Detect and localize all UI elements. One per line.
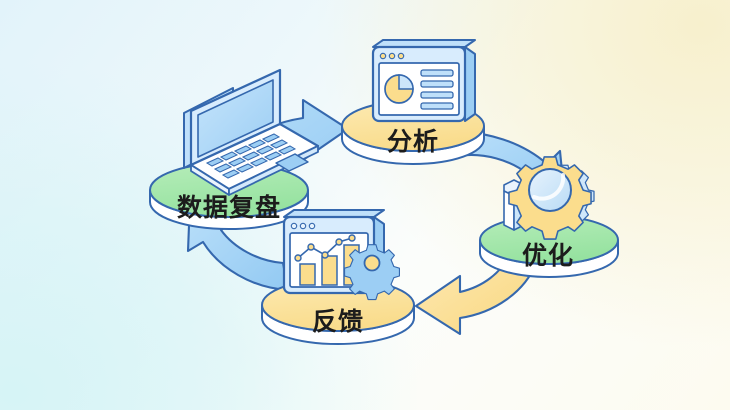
pie-chart-icon [385, 75, 413, 103]
diagram-canvas: 数据复盘 分析 优化 反馈 [0, 0, 730, 410]
node-analysis[interactable] [342, 40, 484, 164]
dashboard-window-icon [373, 40, 475, 121]
cycle-diagram-svg [0, 0, 730, 410]
chart-window-gear-icon [284, 210, 399, 300]
window-dots [291, 223, 314, 228]
node-optimization[interactable] [480, 157, 618, 277]
node-feedback[interactable] [262, 210, 414, 344]
gear-icon [509, 157, 591, 239]
window-dots [380, 53, 403, 58]
gear-icon-feedback [345, 245, 400, 300]
node-data-review[interactable] [150, 70, 318, 229]
